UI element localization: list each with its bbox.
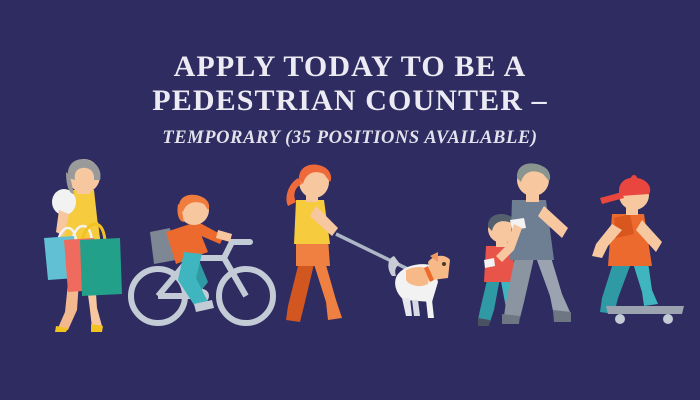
recruitment-banner: APPLY TODAY TO BE A PEDESTRIAN COUNTER –… bbox=[0, 0, 700, 400]
cap-brim bbox=[600, 192, 624, 204]
headline-line-1: APPLY TODAY TO BE A bbox=[0, 52, 700, 82]
front-leg bbox=[632, 260, 658, 306]
skateboarder-illustration bbox=[598, 180, 688, 330]
headline-line-2: PEDESTRIAN COUNTER – bbox=[0, 86, 700, 116]
skateboard-wheel-front bbox=[663, 314, 673, 324]
shoe-front bbox=[553, 310, 571, 322]
figure-cyclist bbox=[128, 196, 278, 328]
back-leg bbox=[286, 258, 314, 322]
dog-leg-front bbox=[426, 300, 434, 318]
figure-skateboarder bbox=[598, 180, 688, 330]
front-leg bbox=[312, 258, 342, 320]
woman-with-shopping-bags-illustration bbox=[22, 160, 130, 332]
cyclist-illustration bbox=[128, 196, 278, 328]
man-walking-illustration bbox=[500, 166, 586, 328]
back-leg bbox=[478, 276, 500, 322]
skateboard-wheel-back bbox=[615, 314, 625, 324]
back-leg bbox=[504, 252, 534, 318]
handlebar bbox=[224, 242, 250, 258]
subheadline: TEMPORARY (35 POSITIONS AVAILABLE) bbox=[0, 129, 700, 148]
back-leg bbox=[600, 260, 630, 314]
skateboard bbox=[606, 306, 684, 324]
dog-leg-back bbox=[402, 298, 412, 316]
skateboard-deck bbox=[606, 306, 684, 314]
headline-block: APPLY TODAY TO BE A PEDESTRIAN COUNTER –… bbox=[0, 52, 700, 148]
shopping-bag-green bbox=[80, 238, 122, 296]
figure-man-walking bbox=[500, 166, 586, 328]
front-leg bbox=[534, 252, 570, 316]
dog-leg-mid bbox=[412, 300, 420, 316]
figure-woman-with-shopping-bags bbox=[22, 160, 130, 332]
dog bbox=[388, 252, 450, 318]
woman-walking-dog-illustration bbox=[282, 166, 452, 328]
figure-woman-walking-dog bbox=[282, 166, 452, 328]
dog-eye bbox=[442, 262, 446, 266]
cap-button bbox=[631, 175, 637, 181]
